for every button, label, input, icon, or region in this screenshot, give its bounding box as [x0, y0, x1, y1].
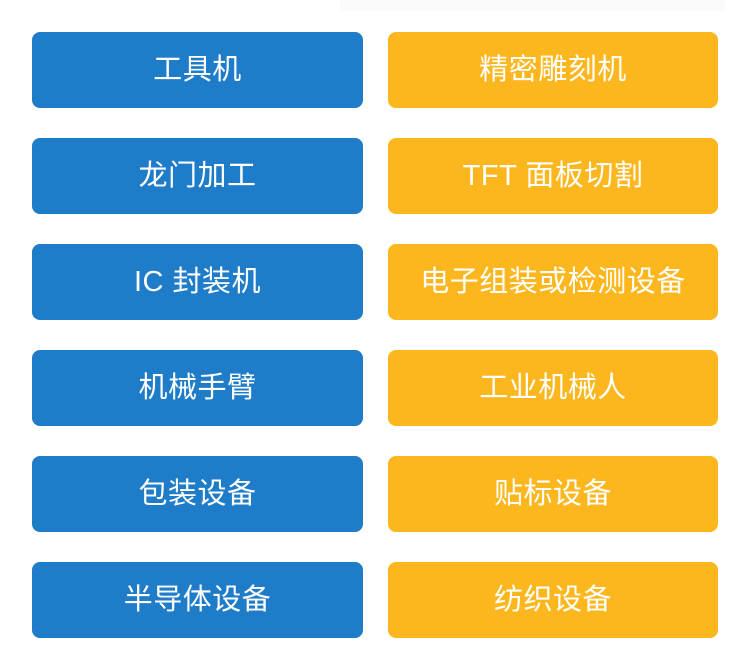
category-button[interactable]: 电子组装或检测设备: [388, 244, 718, 320]
category-button-label: 工具机: [153, 56, 242, 85]
top-gray-band: [340, 0, 725, 11]
category-button[interactable]: 工具机: [32, 32, 363, 108]
category-button[interactable]: 贴标设备: [388, 456, 718, 532]
application-canvas: 工具机精密雕刻机龙门加工TFT 面板切割IC 封装机电子组装或检测设备机械手臂工…: [0, 0, 750, 667]
category-button-label: 工业机械人: [479, 374, 627, 403]
category-button-label: 半导体设备: [124, 586, 272, 615]
category-button[interactable]: 精密雕刻机: [388, 32, 718, 108]
category-button[interactable]: TFT 面板切割: [388, 138, 718, 214]
category-button-label: 纺织设备: [494, 586, 612, 615]
category-button-label: IC 封装机: [134, 268, 261, 297]
category-button[interactable]: 半导体设备: [32, 562, 363, 638]
category-button-label: 包装设备: [138, 480, 256, 509]
category-button[interactable]: 机械手臂: [32, 350, 363, 426]
category-button[interactable]: 纺织设备: [388, 562, 718, 638]
category-button[interactable]: IC 封装机: [32, 244, 363, 320]
category-button-grid: 工具机精密雕刻机龙门加工TFT 面板切割IC 封装机电子组装或检测设备机械手臂工…: [32, 32, 718, 638]
category-button[interactable]: 工业机械人: [388, 350, 718, 426]
category-button[interactable]: 包装设备: [32, 456, 363, 532]
category-button[interactable]: 龙门加工: [32, 138, 363, 214]
category-button-label: 精密雕刻机: [479, 56, 627, 85]
category-button-label: 机械手臂: [138, 374, 256, 403]
category-button-label: 贴标设备: [494, 480, 612, 509]
category-button-label: 龙门加工: [138, 162, 256, 191]
category-button-label: 电子组装或检测设备: [420, 268, 686, 297]
category-button-label: TFT 面板切割: [463, 162, 644, 191]
